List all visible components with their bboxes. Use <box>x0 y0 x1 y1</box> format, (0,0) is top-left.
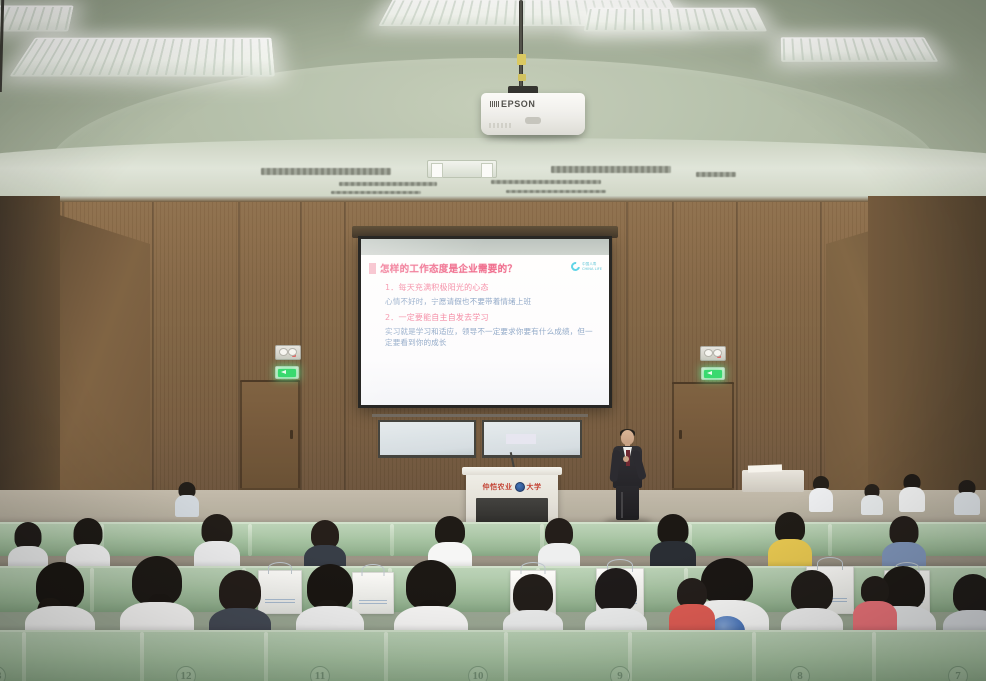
audience-member <box>955 480 979 514</box>
audience-member <box>856 576 894 634</box>
seat-number: 9 <box>610 666 630 681</box>
ceiling-air-vent <box>696 172 736 177</box>
audience-member <box>900 474 924 512</box>
audience-member <box>28 562 92 640</box>
ceiling-panel-light <box>780 37 938 62</box>
projector-brand-label: EPSON <box>501 99 536 109</box>
projector-power-cable <box>519 0 523 96</box>
audience-member <box>176 482 198 516</box>
projector-lens <box>525 117 541 124</box>
cable-tape <box>517 54 526 65</box>
audience-member <box>652 514 694 574</box>
slide-title: 怎样的工作态度是企业需要的？ <box>380 261 517 275</box>
ceiling-air-vent <box>551 166 671 173</box>
ceiling-air-vent <box>491 180 601 184</box>
door-handle[interactable] <box>679 430 682 439</box>
audience-member <box>810 476 832 512</box>
center-ceiling-diffuser <box>427 160 497 178</box>
projector-vent <box>489 123 513 128</box>
slide-point-2-sub: 实习就是学习和适应，领导不一定要求你要有什么成绩，但一定要看到你的成长 <box>385 326 599 348</box>
seat-number: 7 <box>948 666 968 681</box>
lecture-hall-photo: EPSON <box>0 0 986 681</box>
presenter-hand-with-microphone <box>623 456 629 462</box>
emergency-exit-sign <box>275 366 299 379</box>
whiteboard-right <box>482 420 582 458</box>
whiteboard-left <box>378 420 476 458</box>
emergency-light <box>700 346 726 361</box>
seat-row-front[interactable]: 13 12 11 10 9 8 7 <box>0 630 986 681</box>
wall-trim <box>0 196 986 202</box>
audience-member <box>770 512 810 574</box>
ceiling-panel-light <box>583 8 767 32</box>
audience-seating: 13 12 11 10 9 8 7 <box>0 470 986 681</box>
seat-number: 13 <box>0 666 6 681</box>
audience-member <box>862 484 882 514</box>
whiteboard-rail <box>372 414 588 417</box>
china-life-logo-icon <box>569 260 582 273</box>
audience-member <box>124 556 190 640</box>
slide-logo: 中国人寿 CHINA LIFE <box>571 262 602 271</box>
emergency-light <box>275 345 301 360</box>
ceiling-panel-light <box>9 38 274 77</box>
audience-member <box>672 578 712 638</box>
seat-number: 11 <box>310 666 330 681</box>
ceiling-air-vent <box>506 190 606 193</box>
ceiling-air-vent <box>261 168 391 175</box>
emergency-exit-sign <box>701 367 725 380</box>
seat-row-back[interactable] <box>0 522 986 556</box>
cable-tape <box>518 74 526 81</box>
presentation-slide: 怎样的工作态度是企业需要的？ 中国人寿 CHINA LIFE 1．每天充满积极阳… <box>361 255 609 405</box>
audience-member <box>196 514 238 574</box>
slide-accent-bar <box>369 263 376 274</box>
epson-logo-mark <box>490 101 499 107</box>
ceiling-panel-light <box>0 6 73 32</box>
slide-point-2-heading: 2．一定要能自主自发去学习 <box>385 312 599 323</box>
ceiling-air-vent <box>331 191 421 194</box>
slide-point-1-sub: 心情不好时，宁愿请假也不要带着情绪上班 <box>385 296 599 307</box>
seat-number: 8 <box>790 666 810 681</box>
logo-text-en: CHINA LIFE <box>582 267 602 271</box>
slide-point-1-heading: 1．每天充满积极阳光的心态 <box>385 282 599 293</box>
door-handle[interactable] <box>290 430 293 439</box>
seat-number: 12 <box>176 666 196 681</box>
ceiling-projector: EPSON <box>481 93 585 135</box>
seat-number: 10 <box>468 666 488 681</box>
projection-screen: 怎样的工作态度是企业需要的？ 中国人寿 CHINA LIFE 1．每天充满积极阳… <box>358 236 612 408</box>
ceiling-air-vent <box>339 182 437 186</box>
